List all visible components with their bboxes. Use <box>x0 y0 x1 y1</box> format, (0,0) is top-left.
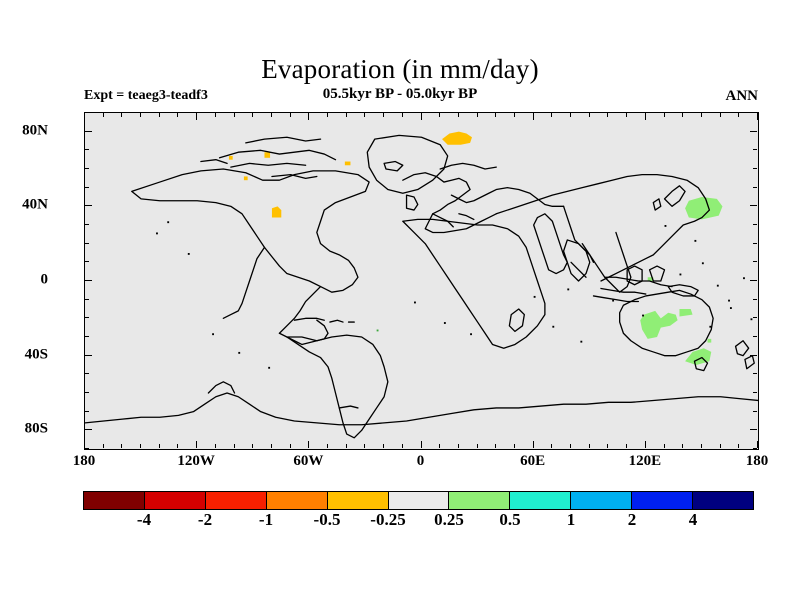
y-axis-tick-label: 0 <box>41 272 49 289</box>
x-axis-tick-label: 120E <box>629 453 662 470</box>
colorbar-tick-label: -1 <box>259 510 273 530</box>
y-tick <box>85 392 89 393</box>
y-tick <box>750 355 757 356</box>
colorbar-tick-label: -0.25 <box>370 510 405 530</box>
y-tick <box>85 317 89 318</box>
x-tick <box>121 113 122 117</box>
y-tick <box>85 448 89 449</box>
x-tick <box>84 113 85 120</box>
colorbar-tick-label: 0.5 <box>499 510 520 530</box>
x-axis-tick-label: 180 <box>73 453 96 470</box>
colorbar-tick-label: 4 <box>689 510 698 530</box>
x-tick <box>551 444 552 448</box>
x-tick <box>757 441 758 448</box>
colorbar-segment <box>693 492 753 509</box>
y-tick <box>85 149 89 150</box>
x-tick <box>551 113 552 117</box>
x-tick <box>271 113 272 117</box>
y-tick <box>85 411 89 412</box>
y-tick <box>85 131 92 132</box>
x-tick <box>215 444 216 448</box>
x-tick <box>570 113 571 117</box>
anomaly-patch-iceland <box>345 162 351 166</box>
colorbar-tick-label: -0.5 <box>314 510 341 530</box>
x-tick <box>570 444 571 448</box>
x-tick <box>159 444 160 448</box>
y-tick <box>85 187 89 188</box>
x-tick <box>364 113 365 117</box>
anomaly-patch-arctic-canada-3 <box>244 176 248 180</box>
x-tick <box>383 113 384 117</box>
x-axis-tick-label: 60E <box>520 453 545 470</box>
x-tick <box>383 444 384 448</box>
x-tick <box>589 444 590 448</box>
colorbar-segment <box>206 492 267 509</box>
y-tick <box>85 336 89 337</box>
colorbar-segment <box>449 492 510 509</box>
y-tick <box>85 243 89 244</box>
colorbar-segment <box>389 492 450 509</box>
x-tick <box>121 444 122 448</box>
anomaly-patch-s-atlantic <box>377 330 379 332</box>
x-tick <box>495 113 496 117</box>
anomaly-patch-arctic-canada-1 <box>264 152 270 158</box>
x-tick <box>196 441 197 448</box>
y-tick <box>85 168 89 169</box>
anomaly-patch-arctic-canada-2 <box>229 156 233 160</box>
x-tick <box>458 444 459 448</box>
x-tick <box>140 444 141 448</box>
colorbar-tick-label: -2 <box>198 510 212 530</box>
x-tick <box>495 444 496 448</box>
world-map-svg <box>85 113 758 449</box>
x-tick <box>664 113 665 117</box>
x-tick <box>196 113 197 120</box>
map-plot-area <box>84 112 759 450</box>
page-title: Evaporation (in mm/day) <box>0 54 800 85</box>
x-tick <box>626 444 627 448</box>
experiment-label: Expt = teaeg3-teadf3 <box>84 88 208 104</box>
x-axis-tick-label: 60W <box>293 453 323 470</box>
x-tick <box>252 444 253 448</box>
x-tick <box>140 113 141 117</box>
y-tick <box>753 448 757 449</box>
x-tick <box>84 441 85 448</box>
x-tick <box>645 113 646 120</box>
colorbar-tick-label: 2 <box>628 510 637 530</box>
y-axis-tick-label: 40S <box>25 346 48 363</box>
x-tick <box>252 113 253 117</box>
x-tick <box>701 444 702 448</box>
y-tick <box>753 411 757 412</box>
x-tick <box>177 113 178 117</box>
x-tick <box>103 444 104 448</box>
colorbar-segment <box>84 492 145 509</box>
x-tick <box>421 113 422 120</box>
y-tick <box>85 429 92 430</box>
y-tick <box>753 392 757 393</box>
y-tick <box>750 429 757 430</box>
x-tick <box>159 113 160 117</box>
x-tick <box>701 113 702 117</box>
season-label: ANN <box>726 88 759 105</box>
x-tick <box>364 444 365 448</box>
x-tick <box>514 444 515 448</box>
x-tick <box>682 444 683 448</box>
x-tick <box>177 444 178 448</box>
colorbar-segment <box>267 492 328 509</box>
x-tick <box>664 444 665 448</box>
evaporation-anomaly-map-figure: Evaporation (in mm/day) 05.5kyr BP - 05.… <box>0 0 800 600</box>
x-tick <box>439 113 440 117</box>
x-axis-tick-label: 0 <box>417 453 425 470</box>
y-axis-tick-label: 80N <box>22 122 48 139</box>
x-tick <box>346 444 347 448</box>
colorbar-segment <box>632 492 693 509</box>
y-tick <box>85 299 89 300</box>
colorbar-segment <box>510 492 571 509</box>
y-tick <box>753 224 757 225</box>
y-tick <box>85 261 89 262</box>
colorbar-segment <box>145 492 206 509</box>
x-tick <box>645 441 646 448</box>
anomaly-patch-tasman <box>708 339 712 343</box>
y-tick <box>753 187 757 188</box>
x-tick <box>290 444 291 448</box>
colorbar-tick-label: 1 <box>567 510 576 530</box>
y-axis-tick-label: 40N <box>22 197 48 214</box>
x-tick <box>533 113 534 120</box>
x-tick <box>402 444 403 448</box>
y-axis-tick-label: 80S <box>25 421 48 438</box>
x-tick <box>738 113 739 117</box>
colorbar-tick-label: -4 <box>137 510 151 530</box>
x-tick <box>477 444 478 448</box>
x-tick <box>402 113 403 117</box>
x-tick <box>533 441 534 448</box>
y-tick <box>753 373 757 374</box>
x-tick <box>589 113 590 117</box>
y-tick <box>753 112 757 113</box>
x-axis-tick-label: 120W <box>177 453 215 470</box>
y-tick <box>750 205 757 206</box>
x-tick <box>308 113 309 120</box>
y-tick <box>85 224 89 225</box>
x-tick <box>757 113 758 120</box>
y-tick <box>753 336 757 337</box>
x-tick <box>738 444 739 448</box>
x-tick <box>439 444 440 448</box>
x-tick <box>234 113 235 117</box>
x-tick <box>514 113 515 117</box>
x-tick <box>626 113 627 117</box>
x-tick <box>477 113 478 117</box>
x-tick <box>271 444 272 448</box>
colorbar-segment <box>328 492 389 509</box>
y-tick <box>85 280 92 281</box>
colorbar-segment <box>571 492 632 509</box>
x-tick <box>234 444 235 448</box>
x-axis-tick-label: 180 <box>746 453 769 470</box>
y-tick <box>753 149 757 150</box>
y-tick <box>753 168 757 169</box>
y-tick <box>753 243 757 244</box>
x-tick <box>607 444 608 448</box>
x-tick <box>421 441 422 448</box>
y-tick <box>753 299 757 300</box>
y-tick <box>750 131 757 132</box>
y-tick <box>85 373 89 374</box>
colorbar[interactable] <box>83 491 754 510</box>
colorbar-tick-label: 0.25 <box>434 510 464 530</box>
x-tick <box>327 444 328 448</box>
x-tick <box>327 113 328 117</box>
y-tick <box>750 280 757 281</box>
x-tick <box>290 113 291 117</box>
y-tick <box>85 205 92 206</box>
x-tick <box>308 441 309 448</box>
y-tick <box>85 355 92 356</box>
x-tick <box>607 113 608 117</box>
x-tick <box>720 113 721 117</box>
x-tick <box>346 113 347 117</box>
x-tick <box>458 113 459 117</box>
y-tick <box>753 261 757 262</box>
x-tick <box>215 113 216 117</box>
x-tick <box>103 113 104 117</box>
y-tick <box>85 112 89 113</box>
x-tick <box>720 444 721 448</box>
x-tick <box>682 113 683 117</box>
y-tick <box>753 317 757 318</box>
